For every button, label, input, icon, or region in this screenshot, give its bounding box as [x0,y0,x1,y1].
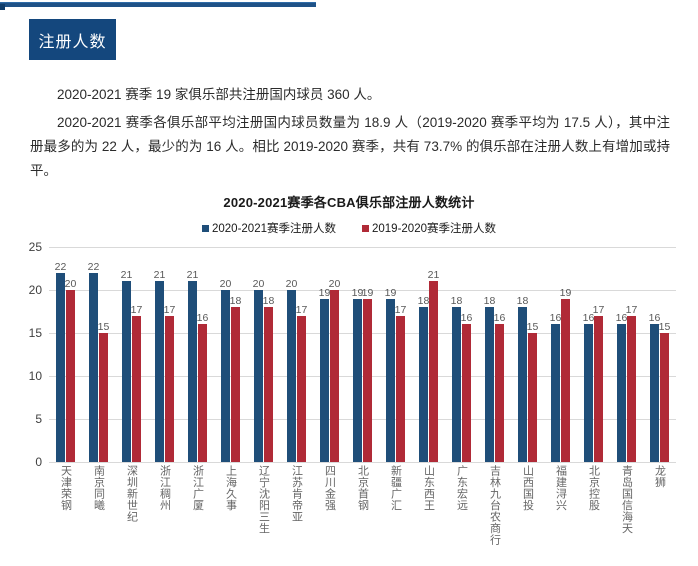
bar-value-label: 17 [296,304,308,316]
bar-series-1: 18 [485,307,494,462]
bar-series-1: 16 [551,324,560,462]
x-axis-label: 新疆广汇 [379,465,412,546]
paragraph-2: 2020-2021 赛季各俱乐部平均注册国内球员数量为 18.9 人（2019-… [30,111,670,183]
bar-series-2: 17 [297,316,306,462]
x-axis-label-text: 北京控股 [588,465,600,546]
top-divider-marker-icon [0,4,5,10]
x-axis-label-text: 吉林九台农商行 [489,465,501,546]
x-axis-label-text: 浙江广厦 [192,465,204,546]
x-axis-label: 山东西王 [412,465,445,546]
bar-series-1: 20 [221,290,230,462]
y-axis-tick-label: 15 [29,326,42,340]
bar-value-label: 20 [220,278,232,290]
x-axis-label: 福建浔兴 [544,465,577,546]
bar-series-1: 18 [518,307,527,462]
bar-group: 2116 [181,247,214,462]
bar-group: 2018 [247,247,280,462]
bar-group: 1816 [478,247,511,462]
registered-players-bar-chart: 2020-2021赛季各CBA俱乐部注册人数统计 2020-2021赛季注册人数… [0,188,698,566]
bar-series-2: 18 [231,307,240,462]
x-axis-label-text: 深圳新世纪 [126,465,138,546]
section-badge-label: 注册人数 [38,28,106,52]
x-axis-label: 青岛国信海天 [610,465,643,546]
bar-value-label: 16 [197,312,209,324]
x-axis-label-text: 青岛国信海天 [621,465,633,546]
top-divider-rule [0,2,316,7]
bar-value-label: 17 [626,304,638,316]
bar-series-2: 16 [198,324,207,462]
bar-series-2: 17 [594,316,603,462]
bar-series-2: 15 [99,333,108,462]
bar-series-2: 17 [627,316,636,462]
x-axis-label-text: 辽宁沈阳三生 [258,465,270,546]
bar-value-label: 15 [527,321,539,333]
y-axis-tick-label: 25 [29,240,42,254]
bar-series-2: 16 [495,324,504,462]
bar-group: 1617 [610,247,643,462]
bar-value-label: 21 [121,269,133,281]
bar-series-2: 19 [363,299,372,462]
bar-group: 1920 [313,247,346,462]
bar-value-label: 21 [154,269,166,281]
bar-series-1: 18 [419,307,428,462]
bar-value-label: 19 [385,287,397,299]
x-axis-label: 龙狮 [643,465,676,546]
x-axis-label-text: 北京首钢 [357,465,369,546]
x-axis-label: 天津荣钢 [49,465,82,546]
bar-value-label: 17 [131,304,143,316]
chart-plot-area: 0510152025 22202215211721172116201820182… [49,247,676,462]
x-axis-label-text: 南京同曦 [93,465,105,546]
x-axis-label: 北京控股 [577,465,610,546]
bar-series-1: 19 [386,299,395,462]
bar-series-1: 20 [287,290,296,462]
legend-entry-series-1: 2020-2021赛季注册人数 [202,220,336,236]
bar-value-label: 19 [560,287,572,299]
bar-group: 1816 [445,247,478,462]
x-axis-label: 浙江稠州 [148,465,181,546]
bar-series-2: 15 [528,333,537,462]
bar-group: 1815 [511,247,544,462]
bar-value-label: 20 [253,278,265,290]
x-axis-label: 辽宁沈阳三生 [247,465,280,546]
bar-series-1: 21 [155,281,164,462]
bar-group: 1617 [577,247,610,462]
x-axis-label: 北京首钢 [346,465,379,546]
bar-group: 2017 [280,247,313,462]
x-axis-label: 南京同曦 [82,465,115,546]
x-axis-label: 上海久事 [214,465,247,546]
bar-value-label: 16 [550,312,562,324]
x-axis-label: 广东宏远 [445,465,478,546]
bar-group: 1821 [412,247,445,462]
bar-value-label: 17 [395,304,407,316]
x-axis-label: 四川金强 [313,465,346,546]
x-axis-label-text: 福建浔兴 [555,465,567,546]
x-axis-label: 深圳新世纪 [115,465,148,546]
x-axis-label-text: 新疆广汇 [390,465,402,546]
y-axis-tick-label: 5 [35,412,42,426]
x-axis-label-text: 山东西王 [423,465,435,546]
chart-legend: 2020-2021赛季注册人数 2019-2020赛季注册人数 [0,220,698,236]
chart-bar-groups: 2220221521172117211620182018201719201919… [49,247,676,462]
bar-value-label: 17 [593,304,605,316]
bar-series-1: 16 [584,324,593,462]
bar-value-label: 16 [461,312,473,324]
bar-series-1: 16 [617,324,626,462]
bar-series-1: 18 [452,307,461,462]
bar-group: 2220 [49,247,82,462]
bar-group: 1919 [346,247,379,462]
chart-title: 2020-2021赛季各CBA俱乐部注册人数统计 [0,192,698,211]
x-axis-label-text: 天津荣钢 [60,465,72,546]
bar-value-label: 16 [494,312,506,324]
bar-value-label: 18 [451,295,463,307]
bar-series-1: 20 [254,290,263,462]
x-axis-label: 山西国投 [511,465,544,546]
bar-series-1: 16 [650,324,659,462]
bar-series-1: 21 [188,281,197,462]
bar-value-label: 20 [329,278,341,290]
legend-swatch-icon-series-2 [362,225,369,232]
bar-group: 1619 [544,247,577,462]
bar-group: 2117 [115,247,148,462]
bar-series-2: 19 [561,299,570,462]
bar-series-2: 17 [132,316,141,462]
legend-label-series-1: 2020-2021赛季注册人数 [212,220,336,236]
bar-group: 2117 [148,247,181,462]
bar-series-1: 21 [122,281,131,462]
bar-series-2: 20 [66,290,75,462]
bar-series-1: 22 [56,273,65,462]
bar-series-2: 17 [396,316,405,462]
chart-plot-wrapper: 0510152025 22202215211721172116201820182… [0,247,698,547]
x-axis-label: 吉林九台农商行 [478,465,511,546]
legend-label-series-2: 2019-2020赛季注册人数 [372,220,496,236]
bar-series-1: 19 [320,299,329,462]
bar-value-label: 18 [517,295,529,307]
bar-value-label: 21 [428,269,440,281]
bar-value-label: 17 [164,304,176,316]
bar-series-1: 19 [353,299,362,462]
bar-value-label: 15 [98,321,110,333]
bar-value-label: 18 [263,295,275,307]
bar-value-label: 20 [286,278,298,290]
x-axis-label-text: 浙江稠州 [159,465,171,546]
x-axis-label: 江苏肯帝亚 [280,465,313,546]
paragraph-1: 2020-2021 赛季 19 家俱乐部共注册国内球员 360 人。 [30,83,670,107]
bar-series-2: 21 [429,281,438,462]
gridline-0: 0 [49,462,676,463]
bar-value-label: 15 [659,321,671,333]
y-axis-tick-label: 0 [35,455,42,469]
bar-value-label: 22 [55,261,67,273]
bar-series-1: 22 [89,273,98,462]
bar-value-label: 18 [418,295,430,307]
bar-series-2: 16 [462,324,471,462]
bar-value-label: 22 [88,261,100,273]
bar-group: 2215 [82,247,115,462]
x-axis-label-text: 上海久事 [225,465,237,546]
bar-series-2: 17 [165,316,174,462]
y-axis-tick-label: 20 [29,283,42,297]
chart-x-axis-labels: 天津荣钢南京同曦深圳新世纪浙江稠州浙江广厦上海久事辽宁沈阳三生江苏肯帝亚四川金强… [49,465,676,546]
x-axis-label: 浙江广厦 [181,465,214,546]
bar-value-label: 18 [230,295,242,307]
article-body: 2020-2021 赛季 19 家俱乐部共注册国内球员 360 人。 2020-… [30,83,670,187]
bar-value-label: 18 [484,295,496,307]
x-axis-label-text: 四川金强 [324,465,336,546]
bar-value-label: 21 [187,269,199,281]
x-axis-label-text: 江苏肯帝亚 [291,465,303,546]
bar-value-label: 20 [65,278,77,290]
x-axis-label-text: 山西国投 [522,465,534,546]
bar-value-label: 19 [362,287,374,299]
bar-series-2: 20 [330,290,339,462]
bar-group: 2018 [214,247,247,462]
y-axis-tick-label: 10 [29,369,42,383]
x-axis-label-text: 广东宏远 [456,465,468,546]
bar-group: 1615 [643,247,676,462]
legend-swatch-icon-series-1 [202,225,209,232]
section-badge: 注册人数 [29,19,116,60]
legend-entry-series-2: 2019-2020赛季注册人数 [362,220,496,236]
bar-series-2: 18 [264,307,273,462]
x-axis-label-text: 龙狮 [654,465,666,546]
bar-group: 1917 [379,247,412,462]
bar-series-2: 15 [660,333,669,462]
